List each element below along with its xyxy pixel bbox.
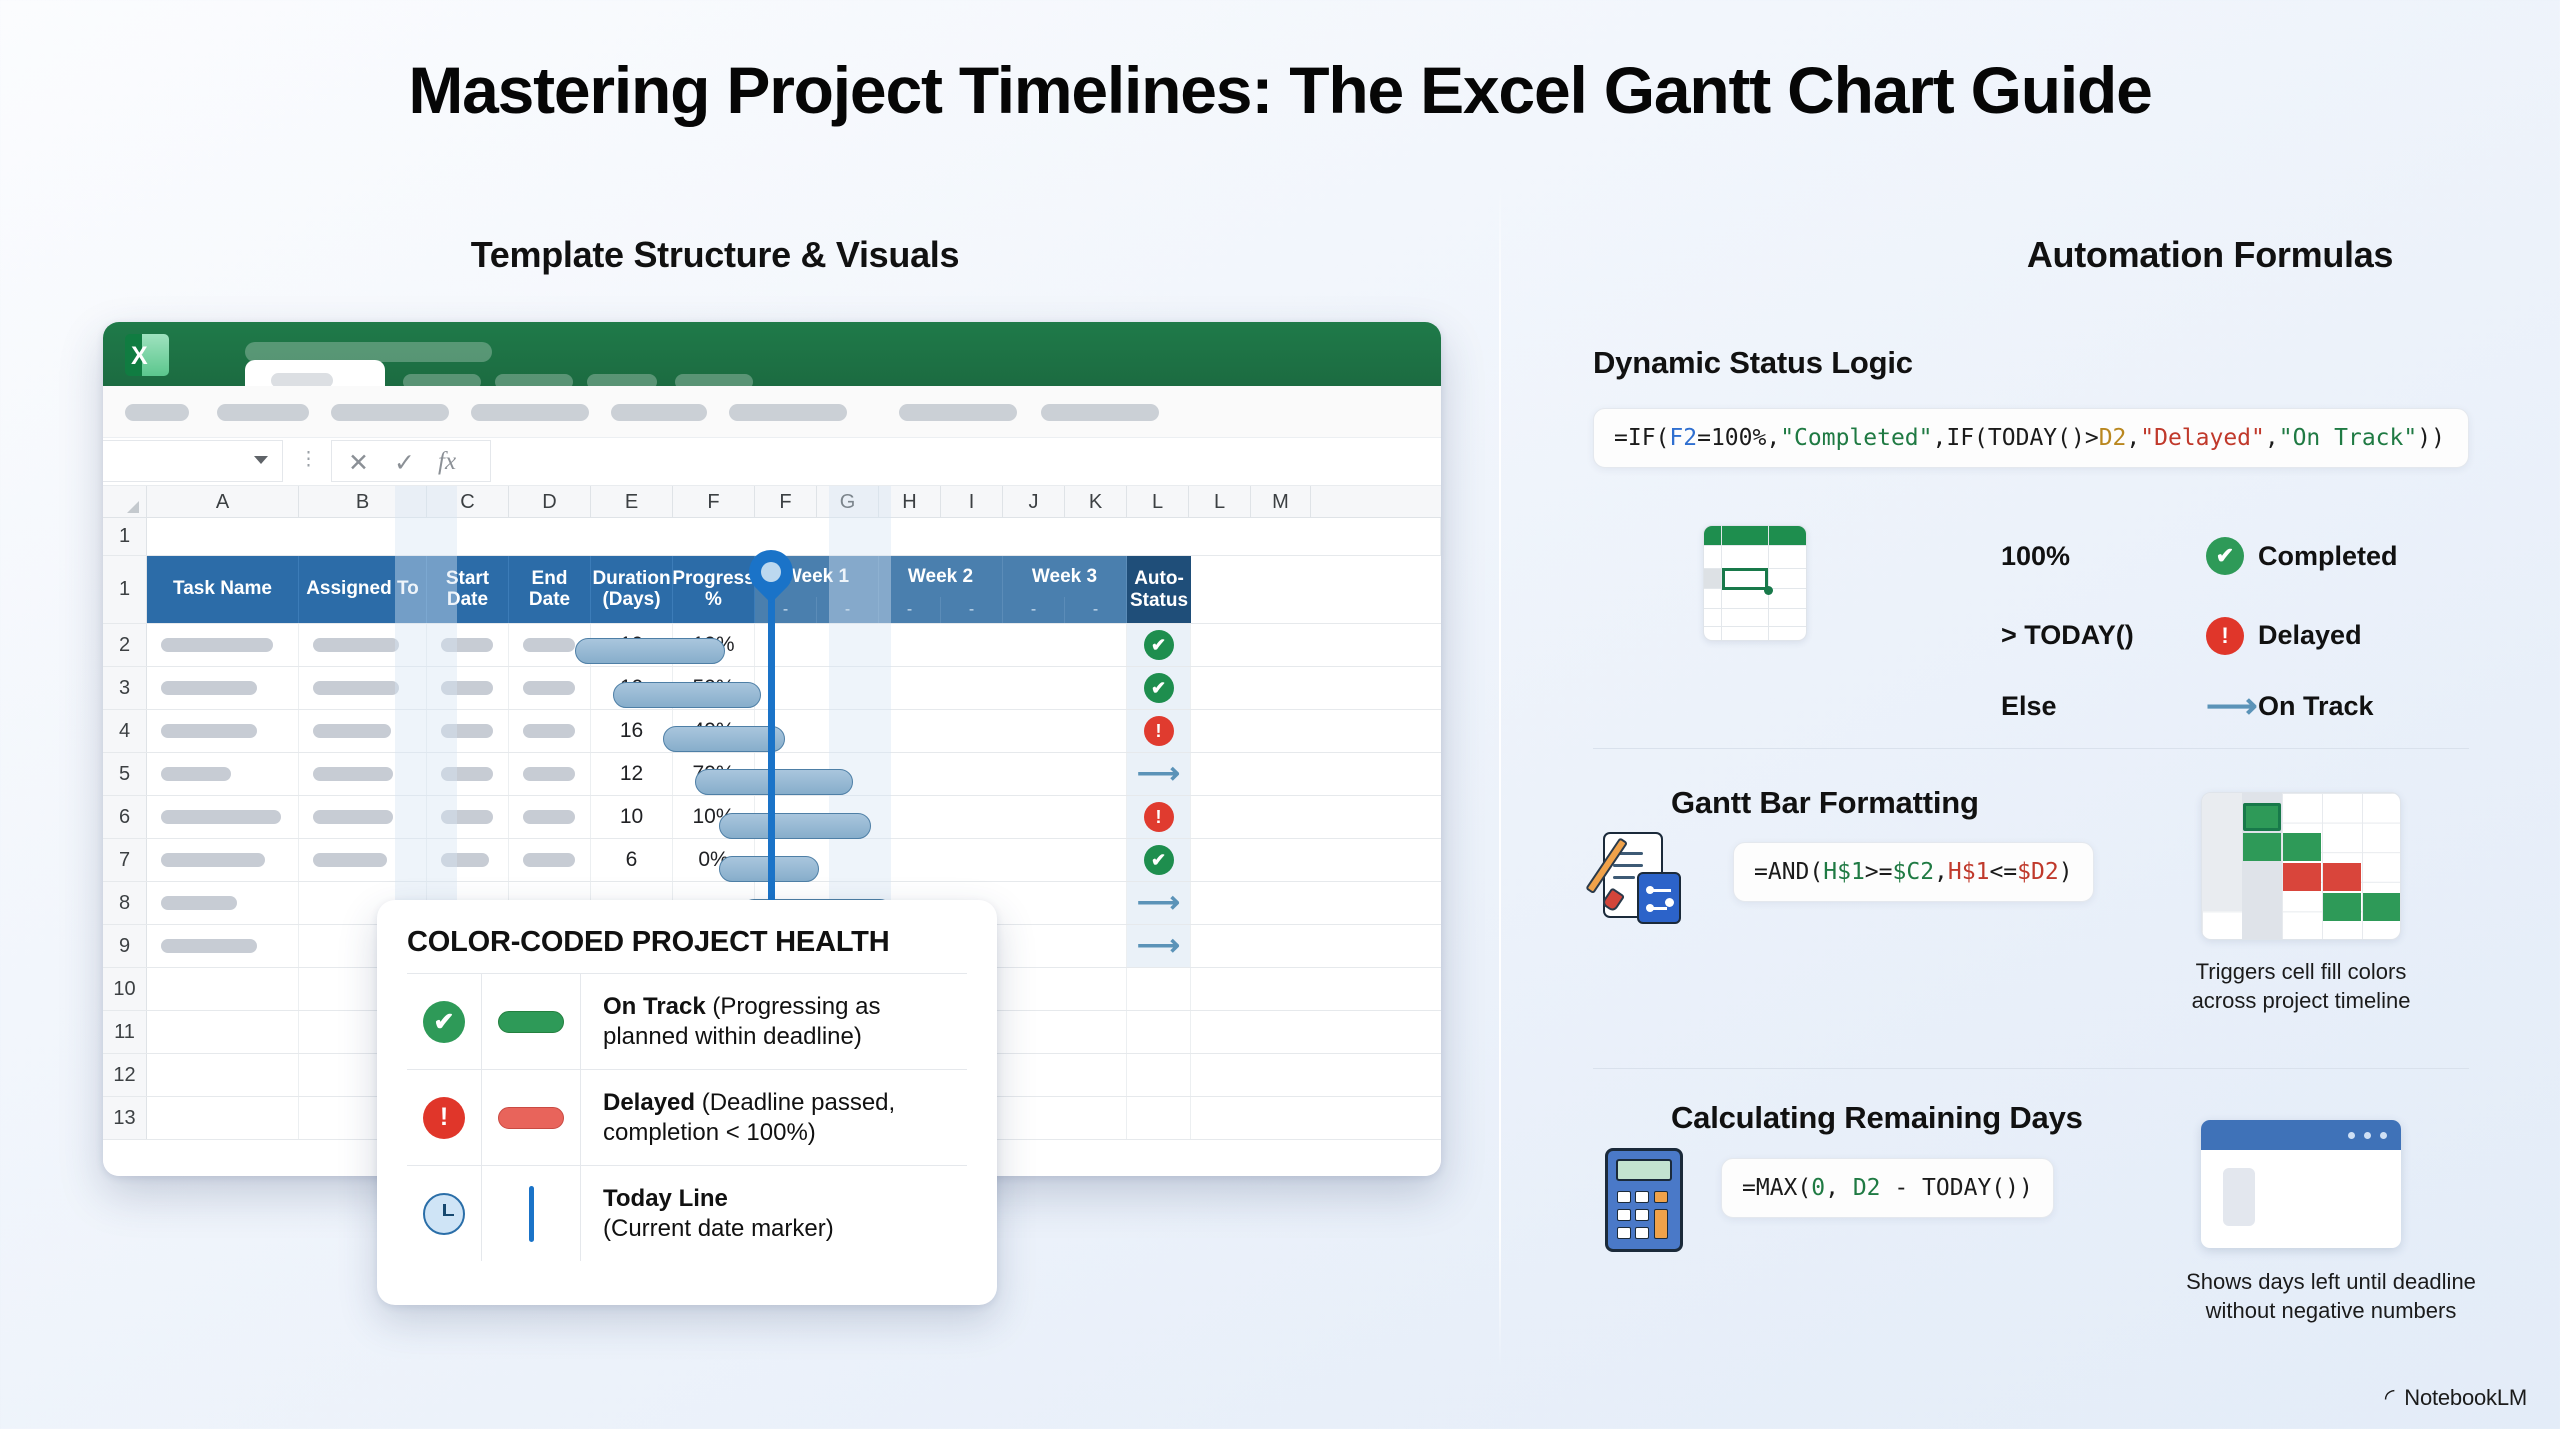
header-week-3: Week 3: [1003, 556, 1127, 597]
header-task-name: Task Name: [147, 556, 299, 623]
status-logic-heading-wrap: Dynamic Status Logic: [1593, 345, 1913, 381]
header-progress: Progress %: [673, 556, 755, 623]
red-bar-swatch: [481, 1070, 581, 1165]
mapping-label: Completed: [2258, 541, 2398, 572]
legend-text-delayed: Delayed (Deadline passed, completion < 1…: [581, 1088, 967, 1147]
clock-icon: [407, 1193, 481, 1235]
window-preview-icon: [2201, 1120, 2401, 1248]
alert-circle-icon: !: [1144, 802, 1174, 832]
cell-auto-status: ✔: [1127, 667, 1191, 709]
section-heading-right: Automation Formulas: [1700, 234, 2560, 276]
check-circle-icon: ✔: [1144, 845, 1174, 875]
green-bar-swatch: [481, 974, 581, 1069]
legend-text-on-track: On Track (Progressing as planned within …: [581, 992, 967, 1051]
legend-title: COLOR-CODED PROJECT HEALTH: [407, 926, 967, 973]
mapping-condition: 100%: [2001, 541, 2206, 572]
excel-logo-letter: X: [131, 342, 148, 371]
gantt-bar: [719, 813, 871, 839]
notebooklm-watermark: ◜ NotebookLM: [2385, 1385, 2527, 1411]
cell-auto-status: !: [1127, 710, 1191, 752]
gantt-formatting-heading: Gantt Bar Formatting: [1671, 785, 1979, 821]
row-number[interactable]: 5: [103, 753, 147, 795]
row-number[interactable]: 7: [103, 839, 147, 881]
excel-formula-bar: ⋮ ✕ ✓ fx: [103, 438, 1441, 486]
remaining-days-caption: Shows days left until deadline without n…: [2131, 1268, 2531, 1325]
row-number[interactable]: 2: [103, 624, 147, 666]
col-header-K[interactable]: K: [1065, 486, 1127, 518]
legend-row-on-track: ✔ On Track (Progressing as planned withi…: [407, 973, 967, 1069]
more-options-icon[interactable]: ⋮: [299, 450, 318, 469]
mapping-condition: > TODAY(): [2001, 620, 2206, 651]
header-week3-day2: -: [1065, 597, 1127, 623]
arrow-right-icon: ⟶: [2206, 688, 2258, 724]
col-header-L1[interactable]: L: [1127, 486, 1189, 518]
section-divider-1: [1593, 748, 2469, 749]
gantt-formatting-caption: Triggers cell fill colors across project…: [2181, 958, 2421, 1015]
col-header-I[interactable]: I: [941, 486, 1003, 518]
column-header-row: A B C D E F F G H I J K L L M: [103, 486, 1441, 518]
row-number[interactable]: 12: [103, 1054, 147, 1096]
legend-label-delayed: Delayed: [603, 1089, 695, 1116]
insert-function-icon[interactable]: fx: [438, 448, 456, 476]
arrow-right-icon: ⟶: [1137, 931, 1180, 961]
spreadsheet-cell-icon: [1703, 525, 1807, 641]
header-auto-status: Auto- Status: [1127, 556, 1191, 623]
alert-circle-icon: !: [2206, 617, 2258, 655]
legend-row-today-line: Today Line(Current date marker): [407, 1165, 967, 1261]
cell-duration: 10: [591, 796, 673, 838]
chevron-down-icon[interactable]: [254, 456, 268, 464]
confirm-icon[interactable]: ✓: [394, 448, 415, 478]
col-header-E[interactable]: E: [591, 486, 673, 518]
col-header-F2[interactable]: F: [755, 486, 817, 518]
page-title: Mastering Project Timelines: The Excel G…: [0, 52, 2560, 128]
row-number[interactable]: 13: [103, 1097, 147, 1139]
col-header-L2[interactable]: L: [1189, 486, 1251, 518]
ribbon-control-8[interactable]: [1041, 404, 1159, 421]
heatmap-preview-icon: [2201, 792, 2401, 940]
row-number[interactable]: 10: [103, 968, 147, 1010]
header-week1-day1: -: [755, 597, 817, 623]
row-number[interactable]: 4: [103, 710, 147, 752]
section-divider-2: [1593, 1068, 2469, 1069]
ribbon-control-1[interactable]: [125, 404, 189, 421]
header-end-date: End Date: [509, 556, 591, 623]
gantt-formatting-formula[interactable]: =AND(H$1>=$C2,H$1<=$D2): [1733, 842, 2094, 902]
document-title-placeholder: [245, 342, 492, 362]
ribbon-control-3[interactable]: [331, 404, 449, 421]
row-number[interactable]: 3: [103, 667, 147, 709]
ribbon-control-6[interactable]: [729, 404, 847, 421]
excel-logo-icon: X: [125, 334, 169, 376]
blue-line-swatch: [481, 1166, 581, 1261]
gantt-bar: [663, 726, 785, 752]
mapping-label: On Track: [2258, 691, 2374, 722]
cell-duration: 6: [591, 839, 673, 881]
cell-auto-status: ⟶: [1127, 753, 1191, 795]
notebooklm-logo-icon: ◜: [2385, 1386, 2394, 1411]
arrow-right-icon: ⟶: [1137, 888, 1180, 918]
cell-duration: 16: [591, 710, 673, 752]
col-header-J[interactable]: J: [1003, 486, 1065, 518]
alert-circle-icon: !: [407, 1097, 481, 1139]
name-box[interactable]: [103, 440, 283, 482]
cell-auto-status: ✔: [1127, 839, 1191, 881]
header-duration: Duration (Days): [591, 556, 673, 623]
cell-auto-status: !: [1127, 796, 1191, 838]
col-header-M[interactable]: M: [1251, 486, 1311, 518]
col-header-D[interactable]: D: [509, 486, 591, 518]
section-heading-left: Template Structure & Visuals: [340, 234, 1090, 276]
mapping-label: Delayed: [2258, 620, 2362, 651]
header-week-2: Week 2: [879, 556, 1003, 597]
legend-label-on-track: On Track: [603, 993, 706, 1020]
legend-label-today-line: Today Line: [603, 1185, 728, 1212]
check-circle-icon: ✔: [1144, 630, 1174, 660]
check-circle-icon: ✔: [407, 1001, 481, 1043]
mapping-condition: Else: [2001, 691, 2206, 722]
row-number[interactable]: 8: [103, 882, 147, 924]
status-logic-heading: Dynamic Status Logic: [1593, 345, 1913, 381]
arrow-right-icon: ⟶: [1137, 759, 1180, 789]
header-week3-day1: -: [1003, 597, 1065, 623]
ribbon-control-5[interactable]: [611, 404, 707, 421]
cell-duration: 12: [591, 753, 673, 795]
check-circle-icon: ✔: [2206, 537, 2258, 575]
legend-row-delayed: ! Delayed (Deadline passed, completion <…: [407, 1069, 967, 1165]
row-number[interactable]: 6: [103, 796, 147, 838]
remaining-days-formula[interactable]: =MAX(0, D2 - TODAY()): [1721, 1158, 2054, 1218]
gantt-bar: [613, 682, 761, 708]
cell-auto-status: ✔: [1127, 624, 1191, 666]
row-number[interactable]: 9: [103, 925, 147, 967]
select-all-corner[interactable]: [103, 486, 147, 518]
row-number[interactable]: 1: [103, 518, 147, 555]
excel-ribbon: [103, 386, 1441, 438]
legend-card: COLOR-CODED PROJECT HEALTH ✔ On Track (P…: [377, 900, 997, 1305]
row-number[interactable]: 1: [103, 556, 147, 623]
calculator-icon: [1605, 1148, 1683, 1252]
cancel-icon[interactable]: ✕: [348, 448, 369, 478]
col-header-F1[interactable]: F: [673, 486, 755, 518]
excel-title-bar: X: [103, 322, 1441, 386]
cell-auto-status: ⟶: [1127, 925, 1191, 967]
check-circle-icon: ✔: [1144, 673, 1174, 703]
formula-bar-buttons: ✕ ✓ fx: [331, 440, 491, 482]
panel-divider: [1499, 180, 1501, 1370]
header-week2-day2: -: [941, 597, 1003, 623]
status-mapping-completed: 100% ✔ Completed: [2001, 520, 2398, 592]
brush-format-icon: [1603, 832, 1681, 924]
status-logic-formula[interactable]: =IF(F2=100%,"Completed",IF(TODAY()>D2,"D…: [1593, 408, 2469, 468]
remaining-days-heading: Calculating Remaining Days: [1671, 1100, 2083, 1136]
alert-circle-icon: !: [1144, 716, 1174, 746]
gantt-bar: [575, 638, 725, 664]
status-mapping-on-track: Else ⟶ On Track: [2001, 679, 2398, 733]
ribbon-control-2[interactable]: [217, 404, 309, 421]
legend-text-today-line: Today Line(Current date marker): [581, 1184, 834, 1243]
col-header-A[interactable]: A: [147, 486, 299, 518]
row-number[interactable]: 11: [103, 1011, 147, 1053]
ribbon-control-7[interactable]: [899, 404, 1017, 421]
cell-auto-status: ⟶: [1127, 882, 1191, 924]
ribbon-control-4[interactable]: [471, 404, 589, 421]
legend-desc-today-line: (Current date marker): [603, 1215, 834, 1242]
notebooklm-label: NotebookLM: [2404, 1385, 2527, 1411]
status-mapping-delayed: > TODAY() ! Delayed: [2001, 592, 2398, 679]
